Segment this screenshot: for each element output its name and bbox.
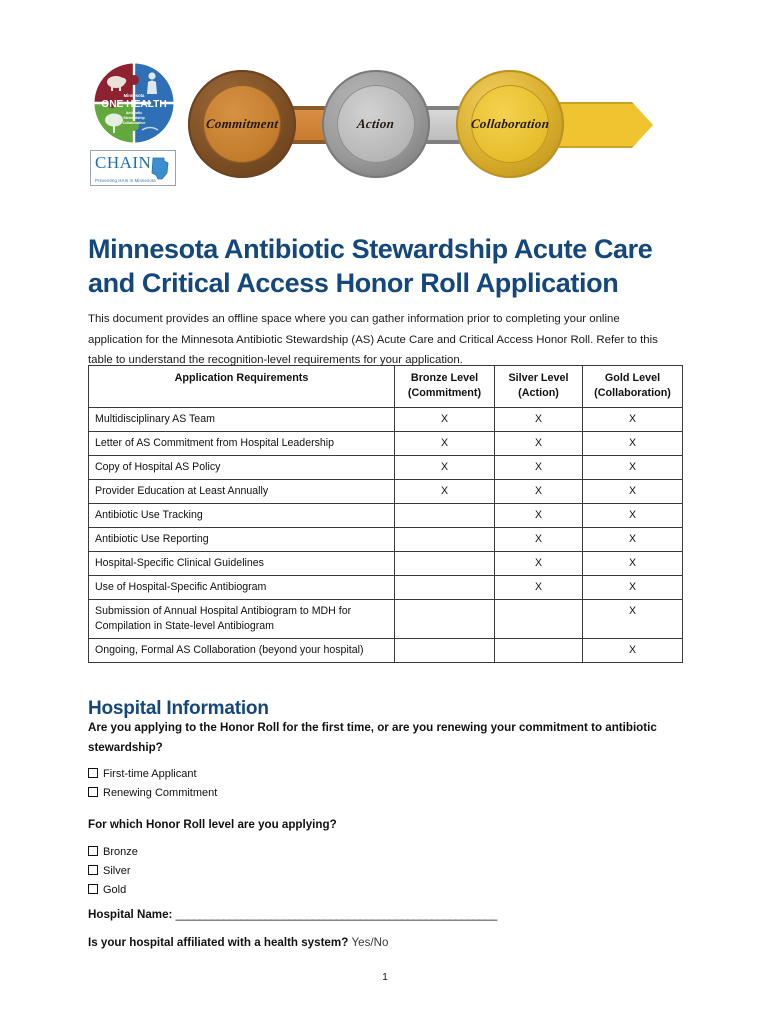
option-bronze[interactable]: Bronze	[88, 843, 138, 862]
section-heading-hospital-information: Hospital Information	[88, 698, 269, 720]
gold-mark-cell: X	[583, 503, 683, 527]
bronze-mark-cell	[395, 527, 495, 551]
bronze-mark-cell	[395, 575, 495, 599]
gold-mark-cell: X	[583, 431, 683, 455]
intro-paragraph: This document provides an offline space …	[88, 309, 676, 370]
silver-medal-icon: Action	[322, 70, 430, 178]
bronze-mark-cell: X	[395, 431, 495, 455]
checkbox-icon[interactable]	[88, 846, 98, 856]
header-line-2: (Commitment)	[408, 387, 481, 399]
svg-text:Collaborative: Collaborative	[123, 121, 146, 125]
header-banner: Minnesota ONE HEALTH Antibiotic Stewards…	[88, 58, 666, 190]
requirements-table: Application Requirements Bronze Level (C…	[88, 365, 683, 663]
table-row: Copy of Hospital AS PolicyXXX	[89, 455, 683, 479]
question-first-time-or-renewing: Are you applying to the Honor Roll for t…	[88, 718, 688, 758]
table-header-row: Application Requirements Bronze Level (C…	[89, 366, 683, 408]
header-line-2: (Collaboration)	[594, 387, 671, 399]
silver-mark-cell	[495, 599, 583, 638]
gold-mark-cell: X	[583, 407, 683, 431]
table-row: Letter of AS Commitment from Hospital Le…	[89, 431, 683, 455]
chain-logo-icon: CHAIN Preventing HAIs in Minnesota	[90, 150, 176, 186]
svg-text:Minnesota: Minnesota	[124, 93, 145, 98]
option-silver[interactable]: Silver	[88, 862, 138, 881]
checkbox-icon[interactable]	[88, 787, 98, 797]
hospital-name-label: Hospital Name:	[88, 908, 172, 921]
gold-mark-cell: X	[583, 455, 683, 479]
silver-mark-cell: X	[495, 479, 583, 503]
question-2-options: Bronze Silver Gold	[88, 843, 138, 900]
bronze-mark-cell	[395, 638, 495, 662]
option-label: Bronze	[103, 846, 138, 858]
gold-mark-cell: X	[583, 575, 683, 599]
requirement-cell: Hospital-Specific Clinical Guidelines	[89, 551, 395, 575]
table-row: Use of Hospital-Specific AntibiogramXX	[89, 575, 683, 599]
chain-logo-tagline: Preventing HAIs in Minnesota	[95, 178, 156, 183]
gold-mark-cell: X	[583, 551, 683, 575]
table-header-silver: Silver Level (Action)	[495, 366, 583, 408]
table-header-gold: Gold Level (Collaboration)	[583, 366, 683, 408]
page-number: 1	[0, 972, 770, 983]
svg-text:Stewardship: Stewardship	[123, 116, 145, 120]
silver-mark-cell: X	[495, 527, 583, 551]
header-line-1: Application Requirements	[175, 372, 309, 384]
requirement-cell: Use of Hospital-Specific Antibiogram	[89, 575, 395, 599]
silver-mark-cell: X	[495, 431, 583, 455]
silver-mark-cell: X	[495, 551, 583, 575]
requirement-cell: Antibiotic Use Reporting	[89, 527, 395, 551]
header-line-1: Bronze Level	[411, 372, 478, 384]
chain-logo-text: CHAIN	[95, 153, 151, 173]
option-renewing-commitment[interactable]: Renewing Commitment	[88, 784, 217, 803]
gold-mark-cell: X	[583, 527, 683, 551]
gold-mark-cell: X	[583, 479, 683, 503]
option-label: Silver	[103, 865, 131, 877]
table-header-requirements: Application Requirements	[89, 366, 395, 408]
gold-mark-cell: X	[583, 599, 683, 638]
hospital-name-input[interactable]: ________________________________________…	[176, 908, 497, 921]
requirement-cell: Submission of Annual Hospital Antibiogra…	[89, 599, 395, 638]
checkbox-icon[interactable]	[88, 768, 98, 778]
silver-mark-cell: X	[495, 503, 583, 527]
table-row: Provider Education at Least AnnuallyXXX	[89, 479, 683, 503]
silver-mark-cell: X	[495, 575, 583, 599]
requirement-cell: Antibiotic Use Tracking	[89, 503, 395, 527]
question-honor-roll-level: For which Honor Roll level are you apply…	[88, 815, 688, 835]
silver-mark-cell	[495, 638, 583, 662]
table-header-bronze: Bronze Level (Commitment)	[395, 366, 495, 408]
option-first-time-applicant[interactable]: First-time Applicant	[88, 765, 217, 784]
requirement-cell: Multidisciplinary AS Team	[89, 407, 395, 431]
checkbox-icon[interactable]	[88, 884, 98, 894]
table-row: Hospital-Specific Clinical GuidelinesXX	[89, 551, 683, 575]
affiliation-answer-options[interactable]: Yes/No	[352, 936, 389, 949]
table-row: Submission of Annual Hospital Antibiogra…	[89, 599, 683, 638]
bronze-mark-cell: X	[395, 407, 495, 431]
bronze-mark-cell	[395, 503, 495, 527]
table-row: Antibiotic Use TrackingXX	[89, 503, 683, 527]
honor-roll-medals-graphic: Commitment Action Collaboration	[188, 58, 666, 190]
option-label: Gold	[103, 884, 126, 896]
table-row: Antibiotic Use ReportingXX	[89, 527, 683, 551]
bronze-medal-label: Commitment	[205, 116, 279, 132]
affiliation-question-label: Is your hospital affiliated with a healt…	[88, 936, 348, 949]
requirement-cell: Provider Education at Least Annually	[89, 479, 395, 503]
gold-mark-cell: X	[583, 638, 683, 662]
requirements-table-body: Multidisciplinary AS TeamXXXLetter of AS…	[89, 407, 683, 662]
bronze-mark-cell: X	[395, 479, 495, 503]
requirement-cell: Letter of AS Commitment from Hospital Le…	[89, 431, 395, 455]
logo-stack: Minnesota ONE HEALTH Antibiotic Stewards…	[88, 60, 180, 188]
silver-mark-cell: X	[495, 455, 583, 479]
checkbox-icon[interactable]	[88, 865, 98, 875]
table-row: Ongoing, Formal AS Collaboration (beyond…	[89, 638, 683, 662]
document-page: Minnesota ONE HEALTH Antibiotic Stewards…	[0, 0, 770, 1024]
gold-medal-label: Collaboration	[470, 116, 550, 132]
health-system-affiliation-row[interactable]: Is your hospital affiliated with a healt…	[88, 936, 388, 949]
bronze-mark-cell: X	[395, 455, 495, 479]
question-1-options: First-time Applicant Renewing Commitment	[88, 765, 217, 803]
requirement-cell: Copy of Hospital AS Policy	[89, 455, 395, 479]
svg-text:Antibiotic: Antibiotic	[126, 111, 143, 115]
bronze-medal-icon: Commitment	[188, 70, 296, 178]
header-line-1: Gold Level	[605, 372, 660, 384]
option-gold[interactable]: Gold	[88, 881, 138, 900]
hospital-name-field-row[interactable]: Hospital Name: _________________________…	[88, 908, 497, 921]
bronze-mark-cell	[395, 551, 495, 575]
gold-medal-icon: Collaboration	[456, 70, 564, 178]
bronze-mark-cell	[395, 599, 495, 638]
one-health-logo-icon: Minnesota ONE HEALTH Antibiotic Stewards…	[92, 60, 176, 146]
header-line-1: Silver Level	[508, 372, 568, 384]
table-row: Multidisciplinary AS TeamXXX	[89, 407, 683, 431]
header-line-2: (Action)	[518, 387, 559, 399]
svg-text:ONE HEALTH: ONE HEALTH	[101, 99, 166, 110]
silver-medal-label: Action	[357, 116, 396, 132]
page-title: Minnesota Antibiotic Stewardship Acute C…	[88, 233, 688, 300]
requirement-cell: Ongoing, Formal AS Collaboration (beyond…	[89, 638, 395, 662]
silver-mark-cell: X	[495, 407, 583, 431]
option-label: Renewing Commitment	[103, 787, 217, 799]
option-label: First-time Applicant	[103, 768, 197, 780]
